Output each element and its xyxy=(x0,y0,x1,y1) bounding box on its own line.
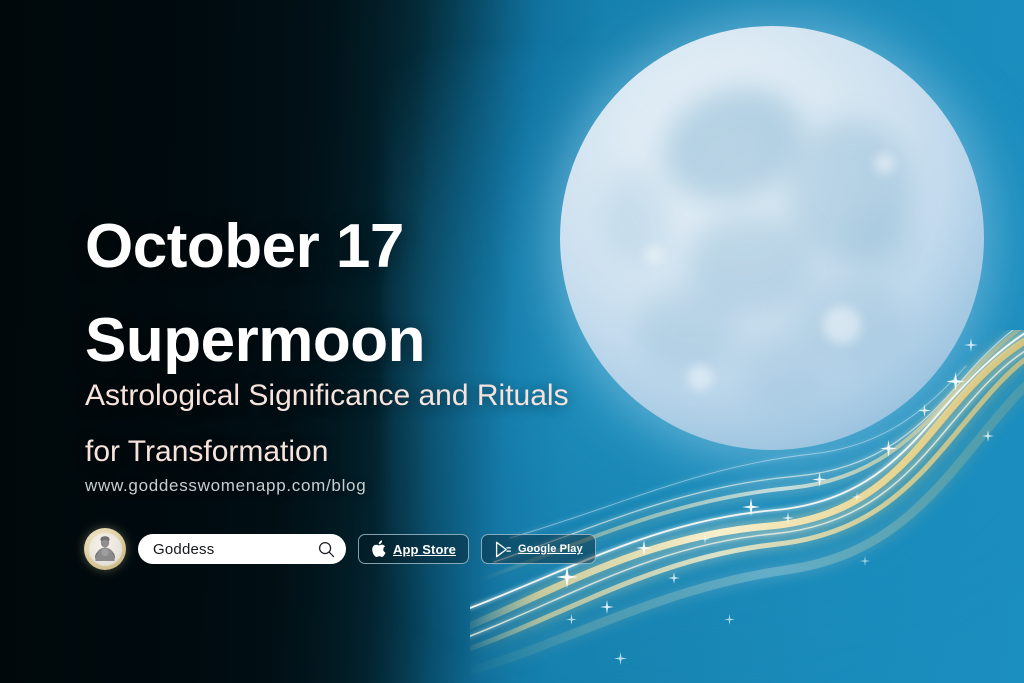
bottom-bar: Goddess App Store xyxy=(84,528,596,570)
google-play-label: Google Play xyxy=(518,543,583,555)
google-play-icon xyxy=(494,541,511,558)
apple-icon xyxy=(371,540,386,558)
subtitle: Astrological Significance and Rituals fo… xyxy=(85,368,785,479)
app-store-label: App Store xyxy=(393,542,456,557)
subtitle-line-2: for Transformation xyxy=(85,424,785,480)
blog-banner: October 17 Supermoon Astrological Signif… xyxy=(0,0,1024,683)
google-play-button[interactable]: Google Play xyxy=(481,534,596,564)
goddess-bust-logo-icon xyxy=(93,536,117,562)
page-title: October 17 Supermoon xyxy=(85,200,425,388)
app-store-button[interactable]: App Store xyxy=(358,534,469,564)
search-input-value[interactable]: Goddess xyxy=(153,541,318,558)
subtitle-line-1: Astrological Significance and Rituals xyxy=(85,379,569,412)
headline-line-1: October 17 xyxy=(85,212,404,281)
app-logo-badge[interactable] xyxy=(84,528,126,570)
app-logo-inner xyxy=(89,533,122,566)
search-icon[interactable] xyxy=(318,541,335,558)
search-input[interactable]: Goddess xyxy=(138,534,346,564)
website-url: www.goddesswomenapp.com/blog xyxy=(85,476,366,496)
